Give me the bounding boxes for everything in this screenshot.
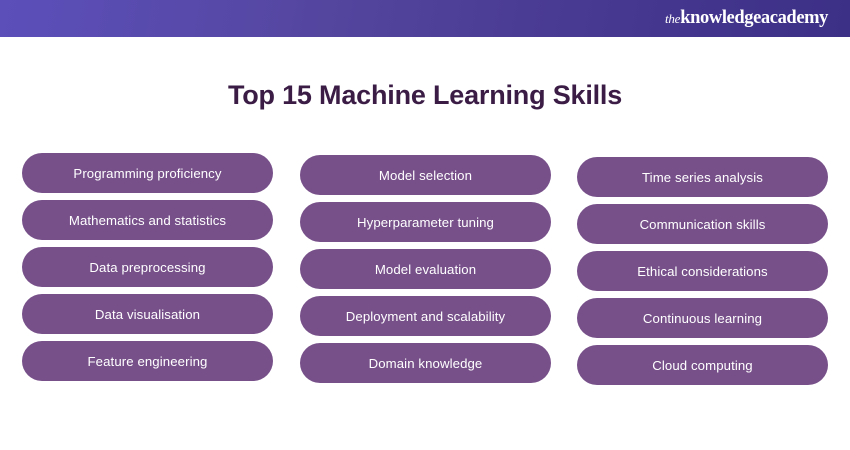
brand-logo-the: the — [665, 11, 680, 26]
skill-pill[interactable]: Communication skills — [577, 204, 828, 244]
skills-column-2: Model selection Hyperparameter tuning Mo… — [300, 153, 551, 390]
brand-logo[interactable]: theknowledgeacademy — [665, 9, 828, 28]
skill-pill[interactable]: Data preprocessing — [22, 247, 273, 287]
skill-pill[interactable]: Ethical considerations — [577, 251, 828, 291]
page-header: theknowledgeacademy — [0, 0, 850, 37]
skills-grid: Programming proficiency Mathematics and … — [0, 153, 850, 383]
skill-pill[interactable]: Time series analysis — [577, 157, 828, 197]
skill-pill[interactable]: Continuous learning — [577, 298, 828, 338]
skill-pill[interactable]: Programming proficiency — [22, 153, 273, 193]
skills-column-3: Time series analysis Communication skill… — [577, 153, 828, 392]
skill-pill[interactable]: Deployment and scalability — [300, 296, 551, 336]
skill-pill[interactable]: Mathematics and statistics — [22, 200, 273, 240]
skills-column-1: Programming proficiency Mathematics and … — [22, 153, 273, 388]
skill-pill[interactable]: Cloud computing — [577, 345, 828, 385]
skill-pill[interactable]: Model evaluation — [300, 249, 551, 289]
page-title: Top 15 Machine Learning Skills — [0, 80, 850, 111]
skill-pill[interactable]: Data visualisation — [22, 294, 273, 334]
skill-pill[interactable]: Feature engineering — [22, 341, 273, 381]
skill-pill[interactable]: Model selection — [300, 155, 551, 195]
brand-logo-name: knowledgeacademy — [680, 8, 828, 28]
skill-pill[interactable]: Hyperparameter tuning — [300, 202, 551, 242]
skill-pill[interactable]: Domain knowledge — [300, 343, 551, 383]
